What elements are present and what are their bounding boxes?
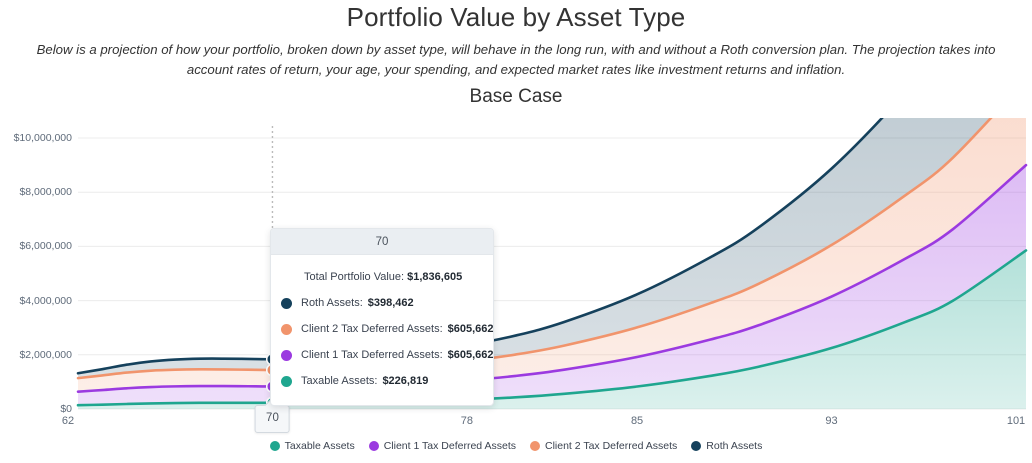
chart-legend[interactable]: Taxable AssetsClient 1 Tax Deferred Asse… [0,440,1032,452]
tooltip-series-label: Roth Assets: [301,297,363,309]
x-axis-tick-label: 85 [631,415,643,427]
legend-item-taxable-assets[interactable]: Taxable Assets [270,440,355,452]
page-title: Portfolio Value by Asset Type [0,2,1032,33]
x-axis-tick-label: 78 [461,415,473,427]
legend-label: Client 1 Tax Deferred Assets [384,440,516,452]
tooltip-series-label: Taxable Assets: [301,375,377,387]
tooltip-row: Client 1 Tax Deferred Assets:$605,662 [281,342,483,368]
chart-description: Below is a projection of how your portfo… [14,40,1018,80]
crosshair-axis-label: 70 [255,405,290,433]
plot-area[interactable]: $0$2,000,000$4,000,000$6,000,000$8,000,0… [0,118,1032,463]
chart-canvas[interactable] [0,118,1032,463]
y-axis-tick-label: $10,000,000 [0,132,72,144]
chart-subtitle: Base Case [0,86,1032,108]
tooltip-series-color-dot [281,324,292,335]
legend-item-roth-assets[interactable]: Roth Assets [691,440,762,452]
chart-page: Portfolio Value by Asset Type Below is a… [0,0,1032,463]
crosshair-label-text: 70 [266,412,279,424]
legend-label: Roth Assets [706,440,762,452]
chart-tooltip: 70 Total Portfolio Value: $1,836,605 Rot… [270,228,494,406]
tooltip-total-value: $1,836,605 [407,271,462,283]
tooltip-series-label: Client 1 Tax Deferred Assets: [301,349,443,361]
tooltip-series-label: Client 2 Tax Deferred Assets: [301,323,443,335]
tooltip-row: Taxable Assets:$226,819 [281,368,483,394]
tooltip-row: Client 2 Tax Deferred Assets:$605,662 [281,316,483,342]
tooltip-series-value: $226,819 [382,375,428,387]
tooltip-series-value: $605,662 [448,323,494,335]
tooltip-body: Total Portfolio Value: $1,836,605 Roth A… [271,255,493,405]
x-axis-tick-label: 101 [1007,415,1025,427]
x-axis-tick-label: 62 [62,415,74,427]
legend-color-dot [369,441,379,451]
y-axis-tick-label: $0 [0,403,72,415]
tooltip-series-value: $605,662 [448,349,494,361]
y-axis-tick-label: $4,000,000 [0,295,72,307]
legend-color-dot [530,441,540,451]
tooltip-header: 70 [271,229,493,255]
y-axis-tick-label: $2,000,000 [0,349,72,361]
legend-item-client-2-tax-deferred-assets[interactable]: Client 2 Tax Deferred Assets [530,440,677,452]
legend-color-dot [691,441,701,451]
tooltip-row: Roth Assets:$398,462 [281,290,483,316]
tooltip-series-color-dot [281,350,292,361]
tooltip-total-label: Total Portfolio Value: [304,271,404,283]
legend-color-dot [270,441,280,451]
legend-label: Client 2 Tax Deferred Assets [545,440,677,452]
legend-label: Taxable Assets [285,440,355,452]
y-axis-tick-label: $8,000,000 [0,186,72,198]
tooltip-total-row: Total Portfolio Value: $1,836,605 [281,264,483,290]
y-axis-tick-label: $6,000,000 [0,240,72,252]
x-axis-tick-label: 93 [825,415,837,427]
tooltip-series-color-dot [281,298,292,309]
legend-item-client-1-tax-deferred-assets[interactable]: Client 1 Tax Deferred Assets [369,440,516,452]
tooltip-series-value: $398,462 [368,297,414,309]
tooltip-series-color-dot [281,376,292,387]
tooltip-series-rows: Roth Assets:$398,462Client 2 Tax Deferre… [281,290,483,394]
